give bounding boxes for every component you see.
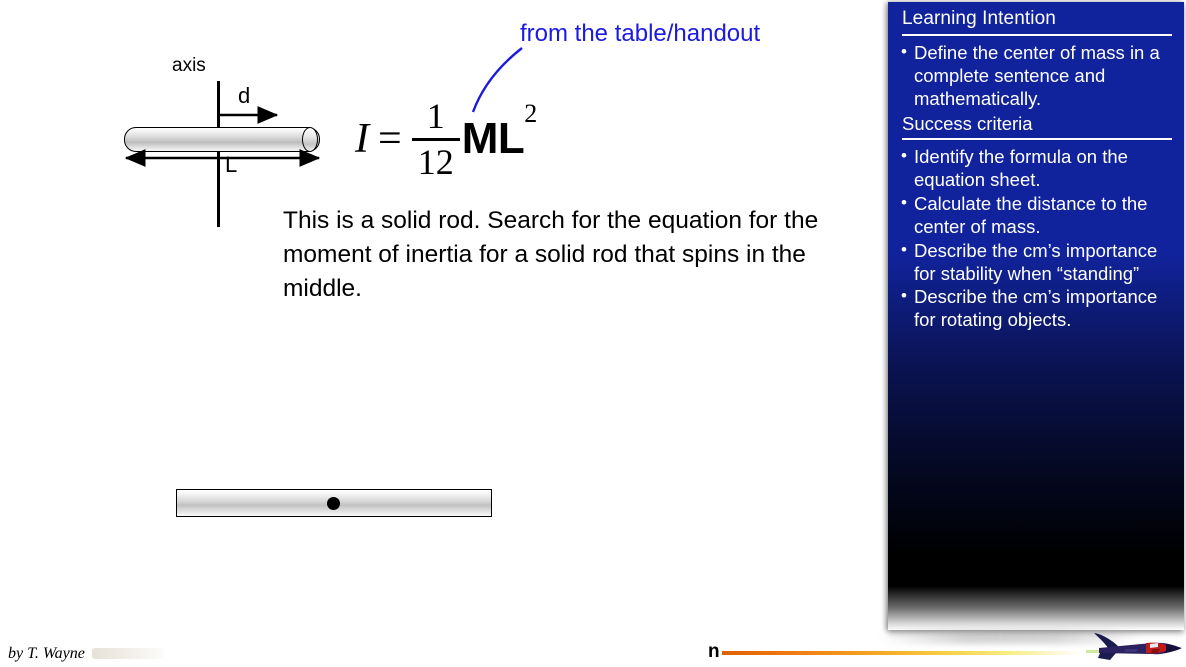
slide-canvas: axis d L	[0, 0, 1186, 667]
list-item: Describe the cm’s importance for rotatin…	[900, 286, 1174, 332]
fraction-bar	[412, 138, 460, 141]
fraction-numerator: 1	[421, 97, 451, 136]
list-item: Identify the formula on the equation she…	[900, 146, 1174, 192]
learning-intention-list: Define the center of mass in a complete …	[900, 42, 1174, 111]
diagram-arrows-svg	[110, 55, 340, 205]
main-content-area: axis d L	[0, 0, 888, 630]
author-credit: by T. Wayne	[8, 645, 85, 663]
jet-exhaust-trail	[722, 651, 1104, 655]
center-of-mass-dot	[327, 497, 340, 510]
fraction-denominator: 12	[412, 143, 460, 182]
rod-axis-diagram: axis d L	[110, 55, 340, 205]
equation-mass-length-term: ML	[462, 117, 525, 161]
moment-of-inertia-equation: I = 1 12 ML 2	[355, 95, 537, 183]
list-item: Describe the cm’s importance for stabili…	[900, 240, 1174, 286]
list-item: Define the center of mass in a complete …	[900, 42, 1174, 111]
sidebar-divider-top	[902, 34, 1172, 36]
footer-marker-n: n	[708, 641, 720, 663]
equation-fraction: 1 12	[412, 97, 460, 182]
jet-plane-icon	[1086, 631, 1184, 665]
list-item: Calculate the distance to the center of …	[900, 193, 1174, 239]
instruction-paragraph: This is a solid rod. Search for the equa…	[283, 204, 838, 305]
center-of-mass-rod-figure	[176, 489, 492, 517]
footer-smudge-decoration	[92, 648, 164, 659]
equation-symbol-I: I	[355, 118, 369, 160]
success-criteria-heading: Success criteria	[902, 113, 1174, 135]
sidebar-title: Learning Intention	[902, 8, 1174, 30]
equation-exponent: 2	[524, 101, 537, 127]
sidebar-divider-middle	[902, 138, 1172, 140]
equation-equals-sign: =	[378, 118, 402, 160]
learning-intention-sidebar: Learning Intention Define the center of …	[888, 2, 1184, 630]
success-criteria-list: Identify the formula on the equation she…	[900, 146, 1174, 333]
